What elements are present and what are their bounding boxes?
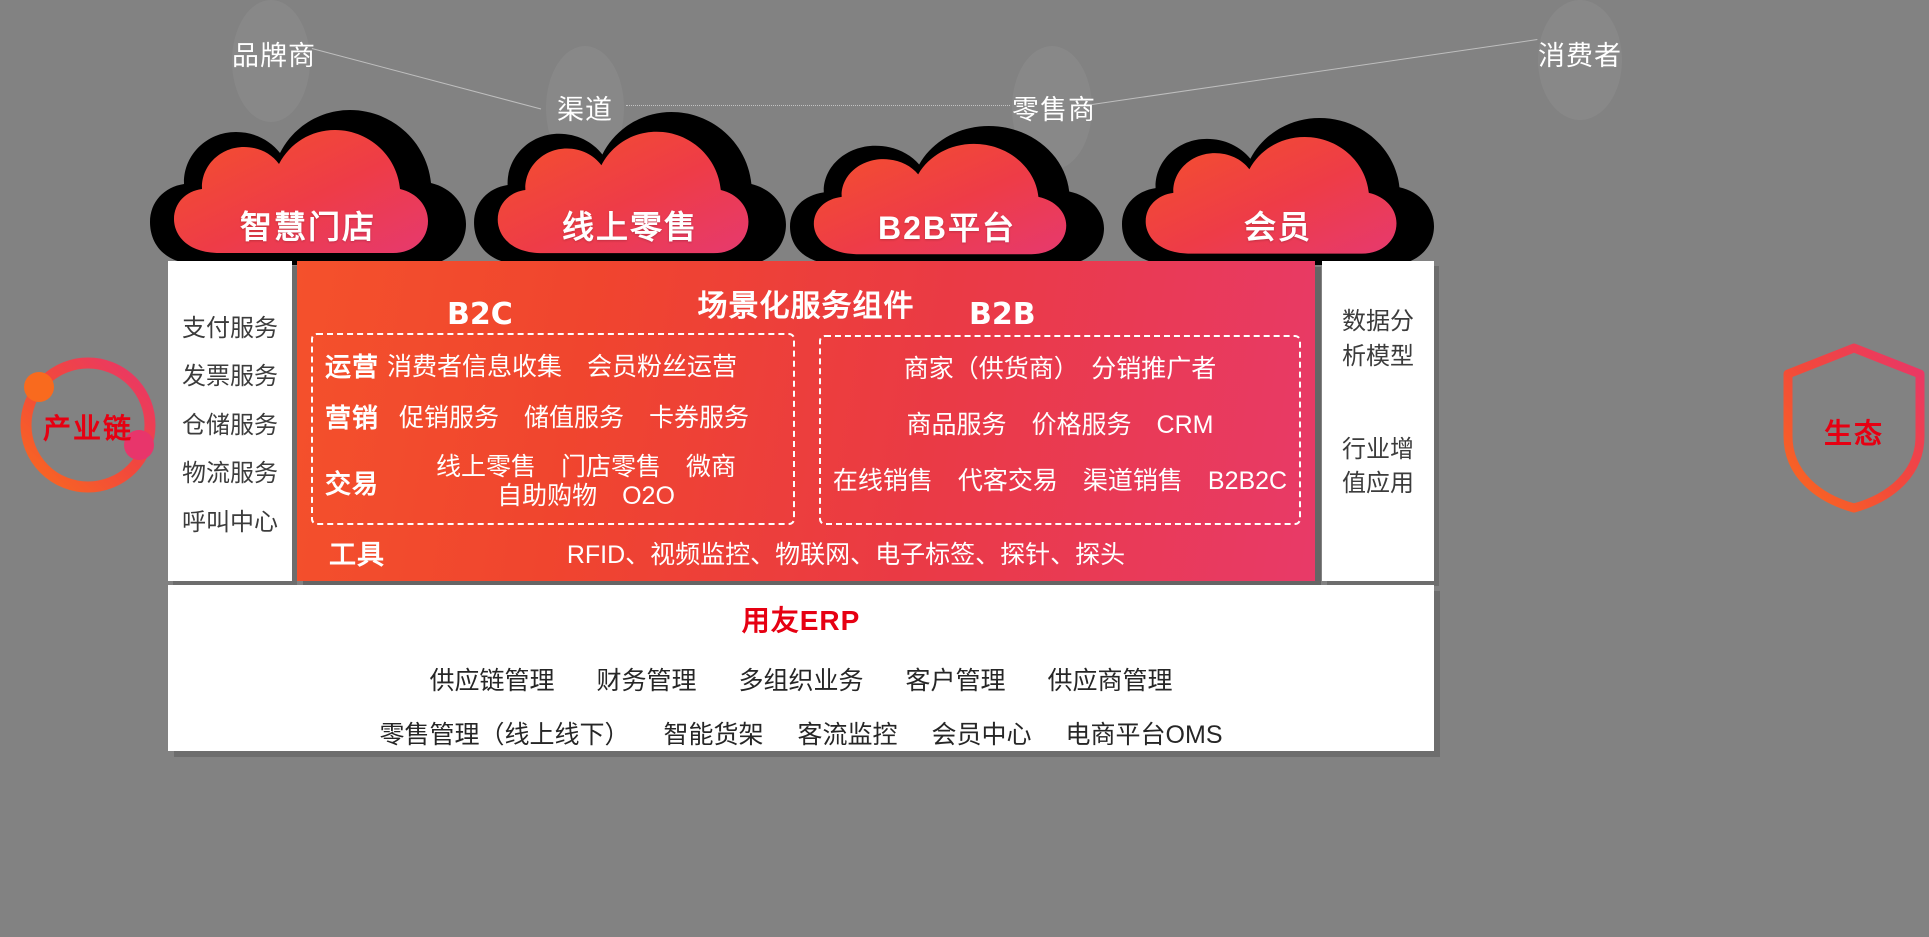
- left-service-item: 支付服务: [182, 305, 278, 353]
- b2c-row-marketing: 营销 促销服务 储值服务 卡券服务: [325, 394, 785, 438]
- right-group-line: 数据分: [1342, 305, 1414, 340]
- b2b-row-merchants: 商家（供货商） 分销推广者: [819, 345, 1301, 389]
- erp-module-row-1: 供应链管理 财务管理 多组织业务 客户管理 供应商管理: [429, 661, 1172, 697]
- b2b-row-value: 在线销售 代客交易 渠道销售 B2B2C: [833, 461, 1287, 497]
- b2c-row-key: 交易: [325, 464, 387, 501]
- erp-module: 供应链管理: [429, 661, 554, 697]
- role-label-retailer: 零售商: [1012, 88, 1092, 127]
- b2b-row-value: 商家（供货商） 分销推广者: [904, 349, 1217, 385]
- b2c-row-transaction: 交易 线上零售 门店零售 微商 自助购物 O2O: [325, 445, 785, 519]
- b2c-row-value: 促销服务 储值服务 卡券服务: [387, 398, 749, 434]
- cloud-label-member: 会员: [1122, 202, 1434, 248]
- right-group-line: 行业增: [1342, 433, 1414, 468]
- tools-row-key: 工具: [311, 533, 391, 572]
- b2c-row-key: 运营: [325, 347, 387, 384]
- b2b-title: B2B: [969, 297, 1036, 332]
- right-group-industry-app: 行业增 值应用: [1342, 433, 1414, 503]
- erp-module: 供应商管理: [1048, 661, 1173, 697]
- role-label-consumer: 消费者: [1538, 34, 1622, 73]
- cloud-b2b-platform[interactable]: B2B平台: [790, 126, 1104, 265]
- erp-module: 财务管理: [596, 661, 696, 697]
- role-label-brand-owner: 品牌商: [232, 34, 310, 73]
- right-group-line: 析模型: [1342, 340, 1414, 375]
- connector-retailer-to-consumer: [1092, 39, 1537, 105]
- industry-chain-badge[interactable]: 产业链: [8, 345, 168, 505]
- ecosystem-label: 生态: [1778, 412, 1929, 452]
- b2c-row-value-stack: 线上零售 门店零售 微商 自助购物 O2O: [387, 453, 785, 512]
- b2b-row-sales: 在线销售 代客交易 渠道销售 B2B2C: [819, 457, 1301, 501]
- left-service-item: 仓储服务: [182, 402, 278, 450]
- erp-panel: 用友ERP 供应链管理 财务管理 多组织业务 客户管理 供应商管理 零售管理（线…: [168, 585, 1434, 751]
- b2c-row-key: 营销: [325, 398, 387, 435]
- b2c-row-value-line: 自助购物 O2O: [497, 482, 675, 512]
- left-service-item: 物流服务: [182, 450, 278, 498]
- b2c-row-operations: 运营 消费者信息收集 会员粉丝运营: [325, 343, 785, 387]
- left-services-column: 支付服务 发票服务 仓储服务 物流服务 呼叫中心: [168, 261, 292, 581]
- left-service-item: 发票服务: [182, 353, 278, 401]
- cloud-online-retail[interactable]: 线上零售: [473, 112, 787, 265]
- connector-brand-to-channel: [312, 48, 541, 110]
- erp-module: 客流监控: [798, 715, 898, 751]
- b2c-row-value: 消费者信息收集 会员粉丝运营: [387, 347, 737, 383]
- connector-channel-to-retailer: [626, 105, 1010, 106]
- industry-chain-label: 产业链: [8, 407, 168, 447]
- cloud-label-online-retail: 线上零售: [473, 202, 787, 248]
- b2c-title: B2C: [447, 297, 513, 332]
- tools-row: 工具 RFID、视频监控、物联网、电子标签、探针、探头: [311, 533, 1301, 572]
- erp-module-row-2: 零售管理（线上线下） 智能货架 客流监控 会员中心 电商平台OMS: [379, 715, 1222, 751]
- right-group-data-model: 数据分 析模型: [1342, 305, 1414, 375]
- cloud-label-b2b-platform: B2B平台: [790, 203, 1104, 249]
- tools-row-value: RFID、视频监控、物联网、电子标签、探针、探头: [391, 535, 1301, 571]
- cloud-member[interactable]: 会员: [1122, 118, 1434, 265]
- b2b-row-value: 商品服务 价格服务 CRM: [907, 405, 1214, 441]
- scenario-service-components-panel: 场景化服务组件 B2C B2B 运营 消费者信息收集 会员粉丝运营 营销 促销服…: [297, 261, 1315, 581]
- erp-module: 会员中心: [932, 715, 1032, 751]
- diagram-canvas: 品牌商 渠道 零售商 消费者 智慧门店: [0, 0, 1929, 937]
- cloud-label-smart-store: 智慧门店: [150, 202, 466, 248]
- b2b-row-products: 商品服务 价格服务 CRM: [819, 401, 1301, 445]
- right-analytics-column: 数据分 析模型 行业增 值应用: [1322, 261, 1434, 581]
- erp-module: 零售管理（线上线下）: [379, 715, 629, 751]
- cloud-smart-store[interactable]: 智慧门店: [150, 110, 466, 265]
- erp-module: 多组织业务: [738, 661, 863, 697]
- left-service-item: 呼叫中心: [182, 499, 278, 547]
- erp-module: 客户管理: [906, 661, 1006, 697]
- erp-module: 电商平台OMS: [1066, 715, 1223, 751]
- erp-module: 智能货架: [664, 715, 764, 751]
- erp-title: 用友ERP: [742, 599, 861, 639]
- ecosystem-badge[interactable]: 生态: [1778, 340, 1929, 515]
- b2c-row-value-line: 线上零售 门店零售 微商: [436, 453, 736, 483]
- right-group-line: 值应用: [1342, 467, 1414, 502]
